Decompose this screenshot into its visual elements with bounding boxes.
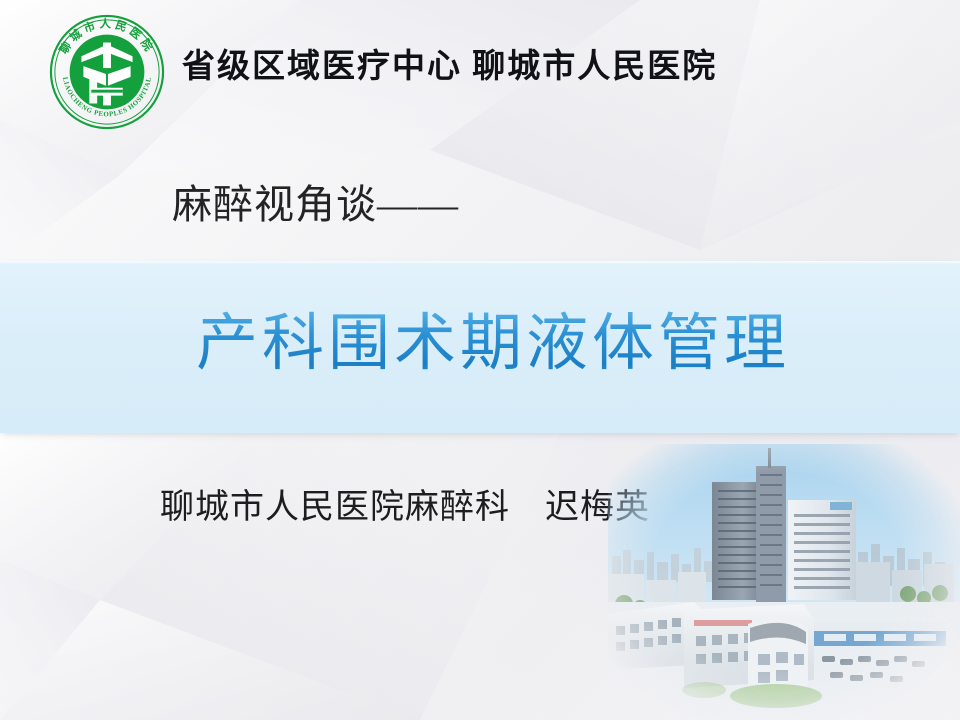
hospital-aerial-photo bbox=[608, 444, 960, 720]
header-title: 省级区域医疗中心 聊城市人民医院 bbox=[182, 45, 717, 89]
hospital-seal-logo-icon: 聊城市人民医院 LIAOCHENG PEOPLES HOSPITAL bbox=[48, 13, 166, 131]
band-highlight-edge bbox=[0, 261, 960, 264]
presentation-slide: 聊城市人民医院 LIAOCHENG PEOPLES HOSPITAL 省级区域医… bbox=[0, 0, 960, 720]
slide-main-title: 产科围术期液体管理 bbox=[196, 304, 790, 384]
presenter-line: 聊城市人民医院麻醉科 迟梅英 bbox=[160, 485, 650, 531]
slide-header: 聊城市人民医院 LIAOCHENG PEOPLES HOSPITAL 省级区域医… bbox=[0, 0, 960, 140]
slide-subtitle: 麻醉视角谈—— bbox=[172, 178, 459, 232]
